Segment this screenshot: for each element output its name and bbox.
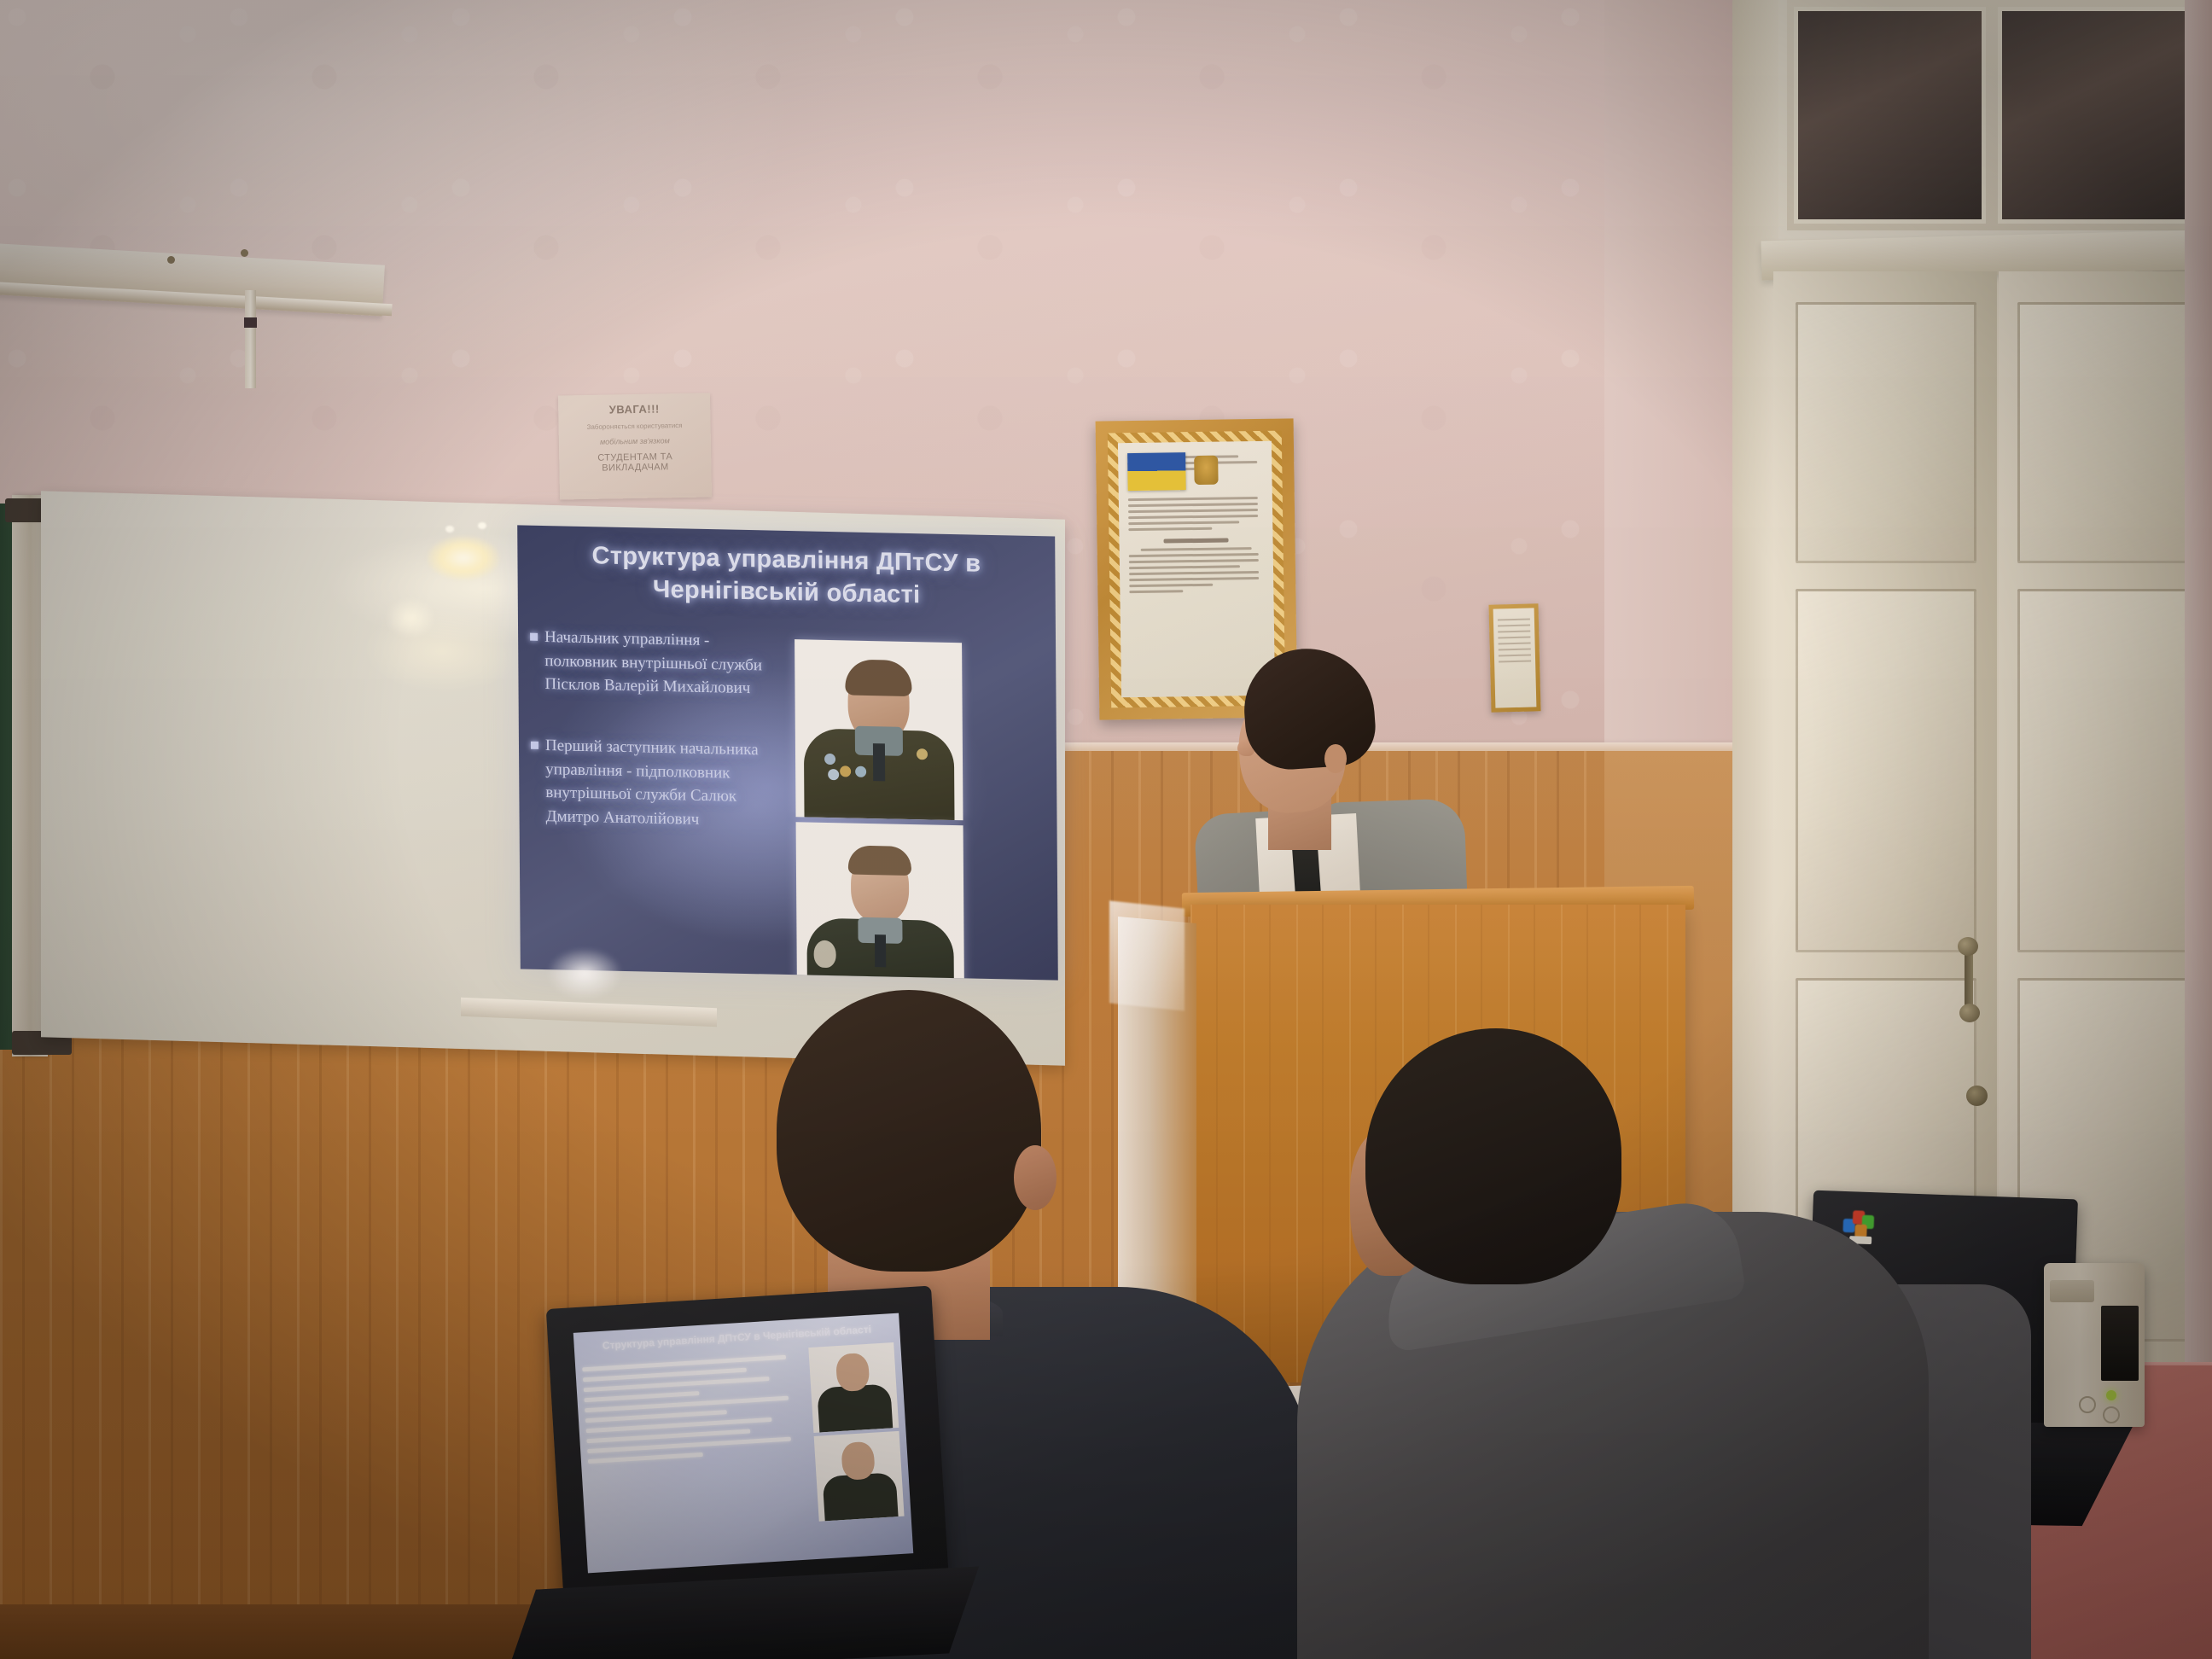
laptop-front-cable — [427, 1642, 649, 1659]
notice-line-3: СТУДЕНТАМ ТА ВИКЛАДАЧАМ — [564, 451, 706, 474]
rail-screw — [241, 249, 248, 257]
projector-hotspot — [546, 947, 623, 1000]
shoulder-patch-icon — [814, 940, 836, 969]
tower-drive-bay[interactable] — [2101, 1306, 2139, 1381]
light-spark — [478, 522, 486, 529]
slide-photo-column — [795, 632, 964, 981]
presenter-hair — [1240, 644, 1377, 772]
presenter — [1195, 649, 1476, 922]
state-seal-icon — [1194, 456, 1218, 485]
slide-bullet-item: Начальник управління - полковник внутріш… — [530, 626, 787, 701]
officer-hair — [845, 660, 911, 697]
officer-portrait-upper — [795, 640, 963, 821]
rail-screw — [167, 256, 175, 264]
transom-pane-left — [1794, 7, 1986, 224]
wall-near-door — [1604, 0, 1749, 768]
audience-left-head — [777, 990, 1041, 1272]
light-spark — [445, 526, 454, 533]
notice-line-1: Забороняється користуватися — [564, 421, 706, 434]
slide-bullet-list: Начальник управління - полковник внутріш… — [530, 626, 789, 981]
laptop-screen-body — [582, 1342, 905, 1539]
transom-pane-right — [1998, 7, 2190, 224]
bullet-square-icon — [531, 742, 538, 749]
door-panel — [2017, 589, 2193, 952]
photo-scene: УВАГА!!! Забороняється користуватися моб… — [0, 0, 2212, 1659]
slide-title: Структура управління ДПтСУ в Чернігівськ… — [529, 539, 1044, 614]
door-handle-knob-top[interactable] — [1958, 937, 1978, 956]
door-panel — [1796, 589, 1976, 952]
door-panel — [1796, 302, 1976, 563]
slide-body: Начальник управління - полковник внутріш… — [530, 626, 1046, 981]
notice-line-2: мобільним зв'язком — [564, 436, 706, 447]
curtain-rod — [245, 290, 256, 388]
power-led-icon — [2106, 1390, 2116, 1400]
door-panel — [2017, 302, 2193, 563]
lamp-reflection-secondary — [386, 597, 435, 638]
ukraine-flag-icon — [1127, 452, 1186, 491]
slide-bullet-item: Перший заступник начальника управління -… — [531, 734, 788, 833]
officer-tie — [873, 743, 885, 781]
laptop-screen-text-lines — [582, 1348, 814, 1538]
slide-bullet-text: Перший заступник начальника управління -… — [545, 734, 788, 833]
certificate-heading — [1164, 538, 1229, 543]
framed-small-document — [1488, 603, 1540, 712]
wall-notice: УВАГА!!! Забороняється користуватися моб… — [558, 393, 712, 499]
laptop-front[interactable]: Структура управління ДПтСУ в Чернігівськ… — [555, 1297, 956, 1659]
notice-heading: УВАГА!!! — [563, 402, 705, 417]
laptop-front-screen[interactable]: Структура управління ДПтСУ в Чернігівськ… — [573, 1313, 914, 1574]
bullet-square-icon — [530, 633, 538, 641]
door-transom-window — [1778, 0, 2205, 239]
officer-hair — [848, 846, 911, 876]
audience-member-right — [1331, 1028, 2099, 1659]
audience-right-head — [1365, 1028, 1621, 1284]
lamp-reflection — [427, 536, 500, 580]
projected-slide: Структура управління ДПтСУ в Чернігівськ… — [517, 525, 1058, 980]
door-handle-knob-bottom[interactable] — [1959, 1004, 1980, 1022]
audience-left-ear — [1014, 1145, 1057, 1210]
tower-reset-button[interactable] — [2103, 1406, 2120, 1423]
laptop-screen-portrait-upper — [808, 1342, 899, 1433]
laptop-screen-photos — [808, 1342, 905, 1525]
officer-tie — [875, 935, 886, 968]
officer-portrait-lower — [796, 823, 964, 981]
small-document-sheet — [1493, 608, 1537, 707]
presenter-ear — [1324, 744, 1347, 773]
slide-bullet-text: Начальник управління - полковник внутріш… — [544, 626, 787, 701]
laptop-screen-portrait-lower — [814, 1430, 905, 1521]
curtain-rod-band — [244, 317, 257, 328]
